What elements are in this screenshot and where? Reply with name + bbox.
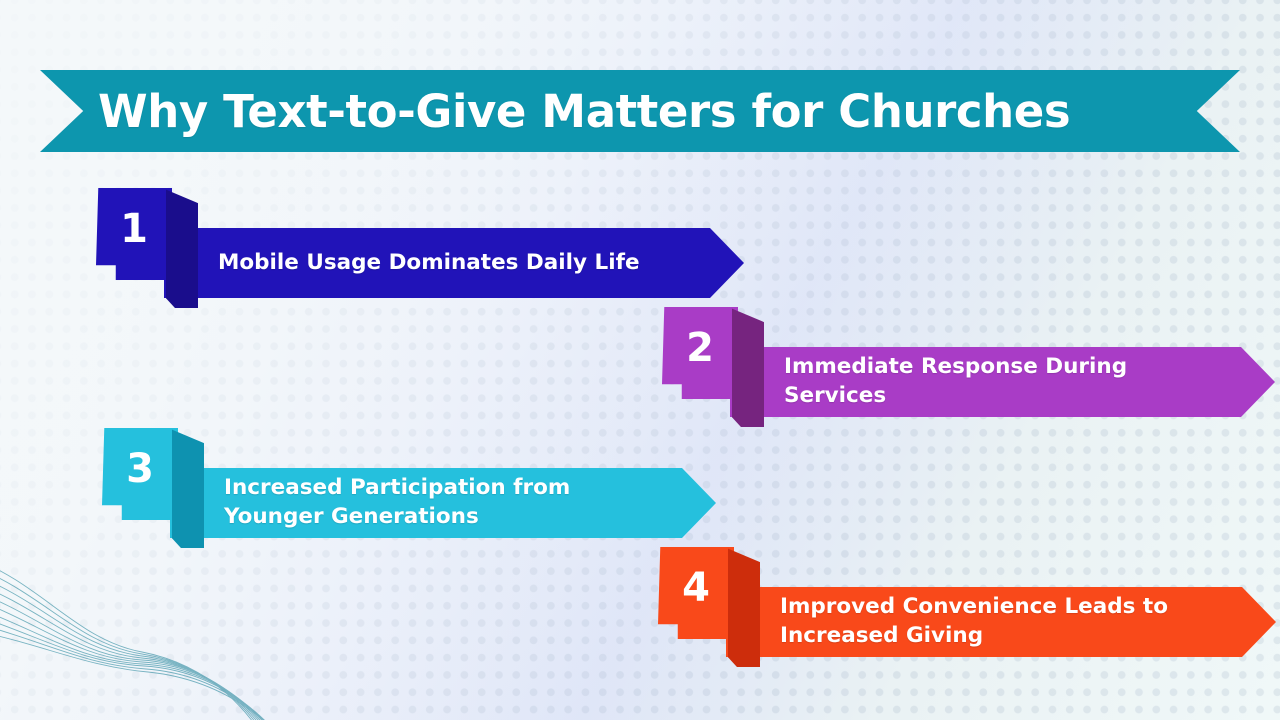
infographic-slide: Why Text-to-Give Matters for Churches Mo… [0,0,1280,720]
item-4-number: 4 [658,547,734,639]
item-1-arrow-bar: Mobile Usage Dominates Daily Life [164,228,744,298]
item-3-number-tab: 3 [102,428,178,520]
wave-decoration-icon [0,544,312,720]
page-title: Why Text-to-Give Matters for Churches [40,70,1240,152]
item-2-label: Immediate Response During Services [730,353,1275,410]
item-2-arrow-bar: Immediate Response During Services [730,347,1275,417]
item-4-label: Improved Convenience Leads to Increased … [726,593,1276,650]
item-2-number: 2 [662,307,738,399]
item-4-number-tab: 4 [658,547,734,639]
item-2-number-tab: 2 [662,307,738,399]
item-3-number: 3 [102,428,178,520]
title-banner: Why Text-to-Give Matters for Churches [40,70,1240,152]
item-4-arrow-bar: Improved Convenience Leads to Increased … [726,587,1276,657]
item-3-arrow-bar: Increased Participation from Younger Gen… [170,468,716,538]
item-3-label: Increased Participation from Younger Gen… [170,474,716,531]
item-1-number-tab: 1 [96,188,172,280]
item-1-label: Mobile Usage Dominates Daily Life [164,249,700,278]
item-1-number: 1 [96,188,172,280]
